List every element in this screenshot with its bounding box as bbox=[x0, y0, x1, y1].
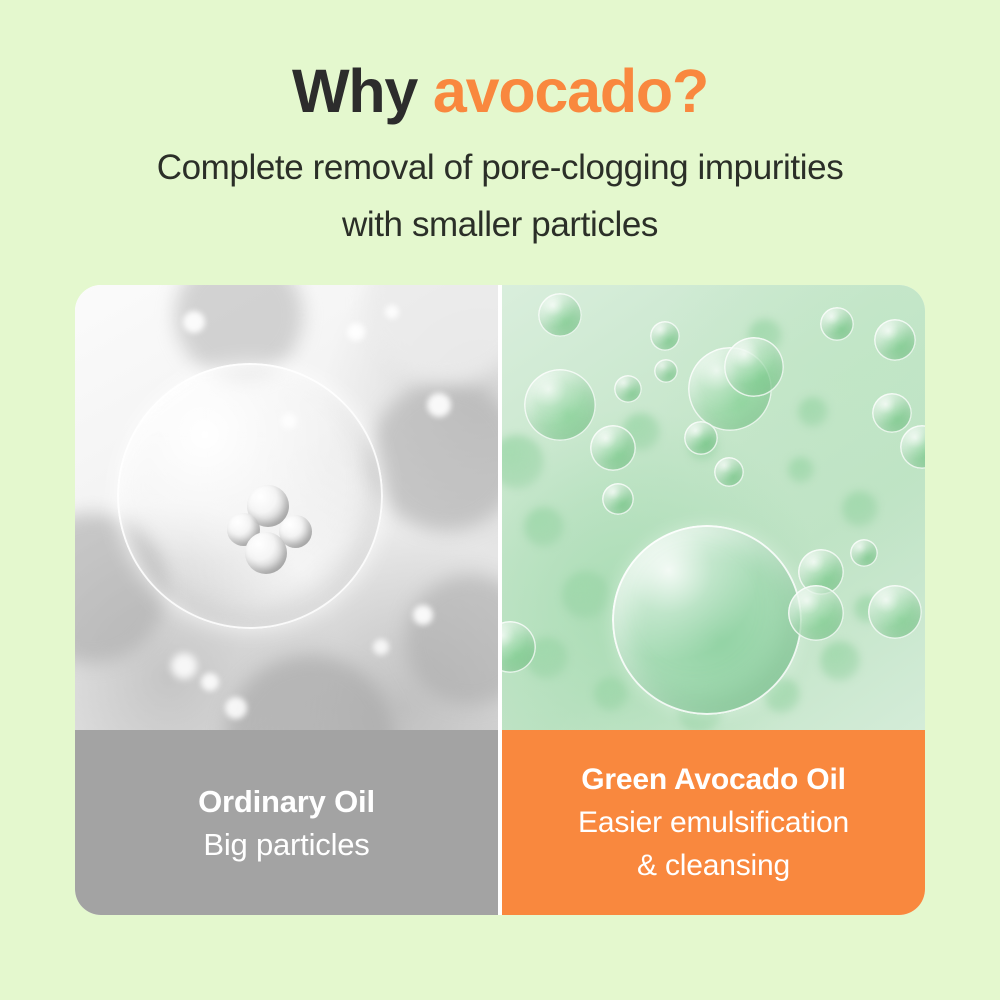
avocado-oil-caption-title: Green Avocado Oil bbox=[581, 758, 845, 801]
title-accent-part: avocado? bbox=[433, 57, 708, 125]
comparison-panel-avocado-oil: Green Avocado Oil Easier emulsification … bbox=[502, 285, 925, 915]
decorative-bubble bbox=[171, 653, 197, 679]
decorative-bubble bbox=[502, 435, 544, 489]
decorative-bubble bbox=[413, 605, 433, 625]
decorative-bubble bbox=[602, 483, 634, 515]
ordinary-oil-large-bubble bbox=[117, 363, 383, 629]
ordinary-oil-caption: Ordinary Oil Big particles bbox=[75, 730, 498, 915]
promo-page: Why avocado? Complete removal of pore-cl… bbox=[0, 0, 1000, 1000]
decorative-bubble bbox=[524, 507, 564, 547]
decorative-bubble bbox=[385, 305, 399, 319]
decorative-bubble bbox=[788, 457, 814, 483]
decorative-bubble bbox=[788, 585, 844, 641]
decorative-bubble bbox=[872, 393, 912, 433]
page-subtitle: Complete removal of pore-clogging impuri… bbox=[0, 139, 1000, 253]
decorative-bubble bbox=[820, 307, 854, 341]
decorative-bubble bbox=[650, 321, 680, 351]
caption-line: Big particles bbox=[203, 823, 369, 866]
ordinary-oil-caption-subtitle: Big particles bbox=[203, 823, 369, 866]
decorative-bubble bbox=[724, 337, 784, 397]
page-title: Why avocado? bbox=[0, 52, 1000, 130]
header: Why avocado? Complete removal of pore-cl… bbox=[0, 52, 1000, 253]
decorative-bubble bbox=[850, 539, 878, 567]
decorative-bubble bbox=[868, 585, 922, 639]
decorative-bubble bbox=[225, 655, 395, 730]
comparison-panel-ordinary-oil: Ordinary Oil Big particles bbox=[75, 285, 498, 915]
comparison-card: Ordinary Oil Big particles bbox=[75, 285, 925, 915]
caption-line: Easier emulsification bbox=[578, 801, 849, 844]
decorative-bubble bbox=[594, 677, 628, 711]
decorative-bubble bbox=[820, 641, 860, 681]
decorative-bubble bbox=[427, 393, 451, 417]
decorative-bubble bbox=[562, 571, 610, 619]
decorative-bubble bbox=[405, 575, 498, 705]
decorative-bubble bbox=[714, 457, 744, 487]
decorative-bubble bbox=[538, 293, 582, 337]
decorative-bubble bbox=[842, 491, 878, 527]
decorative-bubble bbox=[225, 697, 247, 719]
decorative-bubble bbox=[684, 421, 718, 455]
decorative-bubble bbox=[590, 425, 636, 471]
ordinary-oil-caption-title: Ordinary Oil bbox=[198, 780, 375, 823]
decorative-bubble bbox=[373, 639, 389, 655]
decorative-bubble bbox=[900, 425, 925, 469]
ordinary-oil-image bbox=[75, 285, 498, 730]
decorative-bubble bbox=[874, 319, 916, 361]
avocado-oil-caption-subtitle: Easier emulsification & cleansing bbox=[578, 801, 849, 887]
decorative-bubble bbox=[347, 323, 365, 341]
caption-line: & cleansing bbox=[578, 844, 849, 887]
decorative-bubble bbox=[183, 311, 205, 333]
avocado-oil-caption: Green Avocado Oil Easier emulsification … bbox=[502, 730, 925, 915]
decorative-bubble bbox=[798, 397, 828, 427]
title-dark-part: Why bbox=[292, 57, 433, 125]
avocado-oil-image bbox=[502, 285, 925, 730]
molecule-sphere bbox=[245, 532, 287, 574]
avocado-oil-hero-bubble bbox=[612, 525, 802, 715]
subtitle-line-2: with smaller particles bbox=[0, 196, 1000, 253]
subtitle-line-1: Complete removal of pore-clogging impuri… bbox=[0, 139, 1000, 196]
decorative-bubble bbox=[201, 673, 219, 691]
decorative-bubble bbox=[367, 285, 498, 383]
molecule-cluster bbox=[227, 485, 319, 577]
decorative-bubble bbox=[654, 359, 678, 383]
decorative-bubble bbox=[614, 375, 642, 403]
decorative-bubble bbox=[524, 369, 596, 441]
